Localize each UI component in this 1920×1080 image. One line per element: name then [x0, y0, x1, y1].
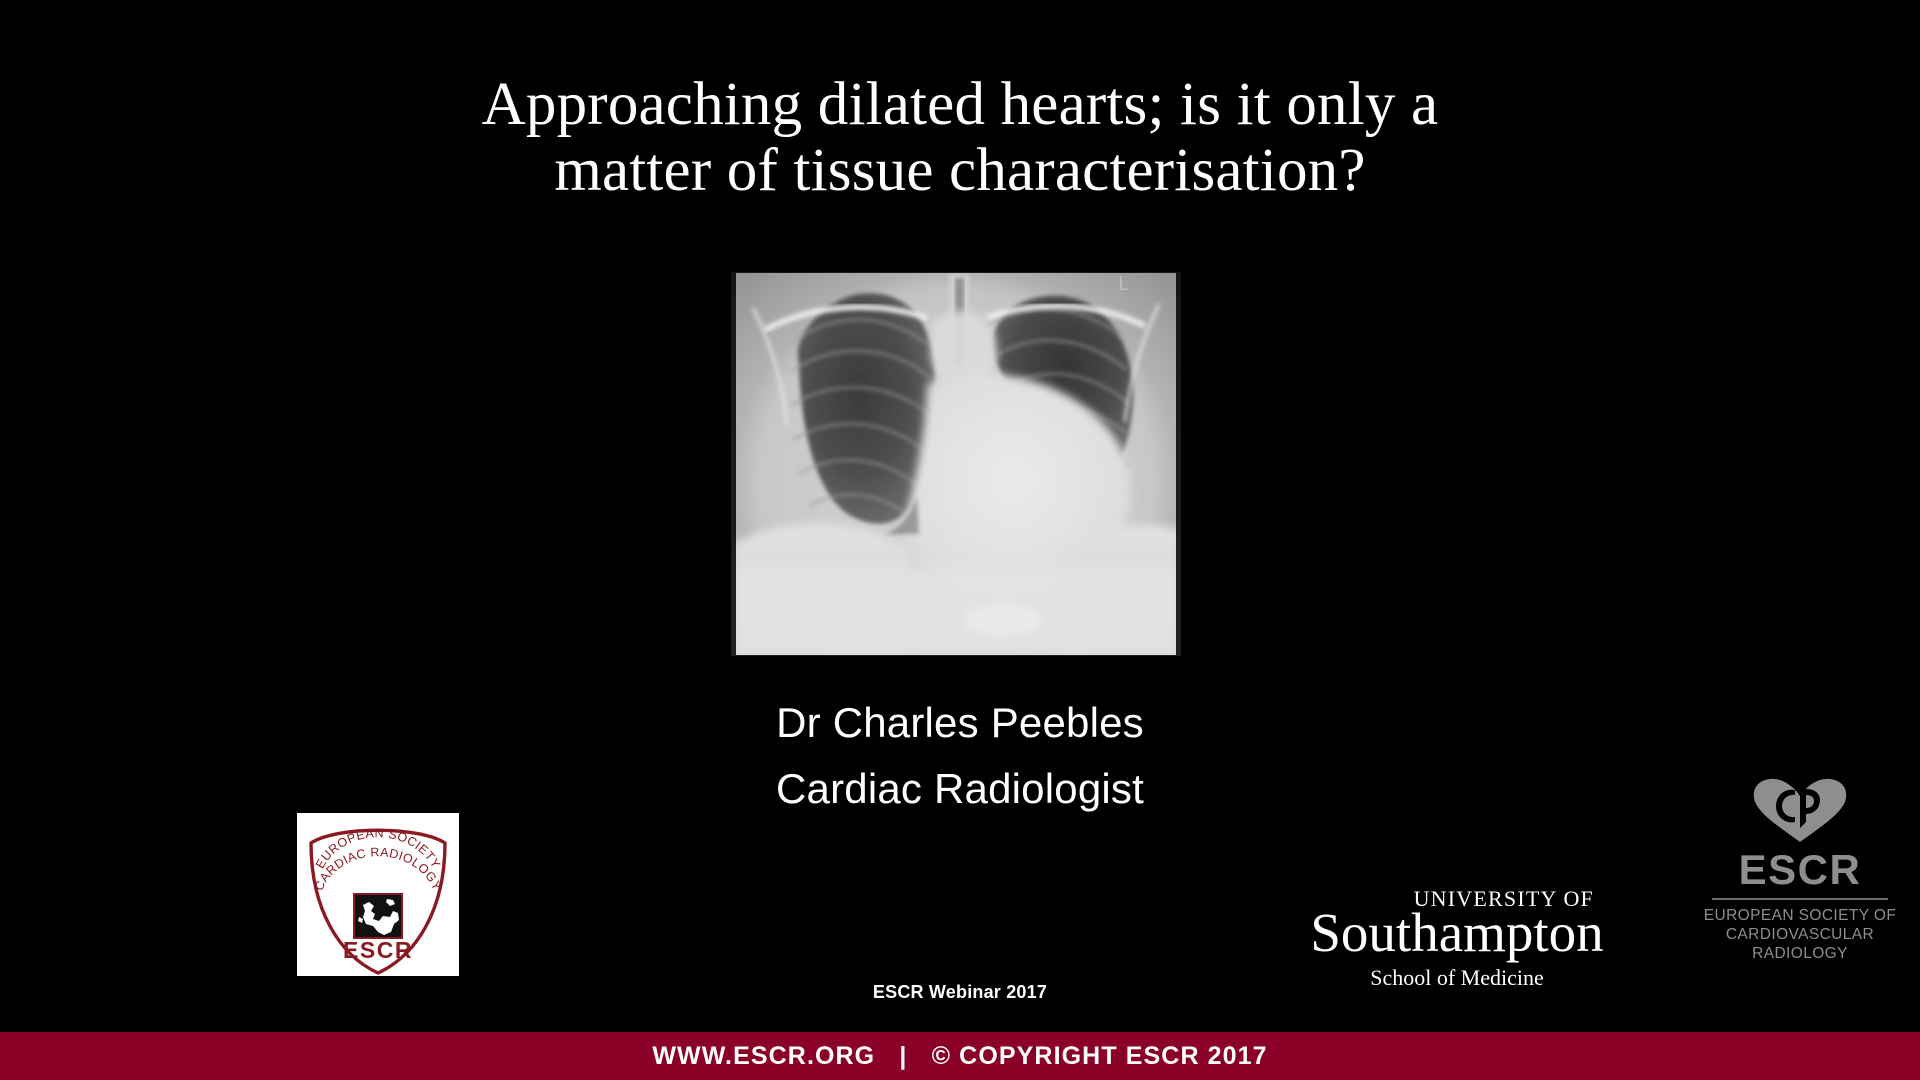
escr-shield-logo: EUROPEAN SOCIETY CARDIAC RADIOLOGY ESCR	[297, 813, 459, 976]
presenter-role: Cardiac Radiologist	[0, 756, 1920, 822]
presenter-name: Dr Charles Peebles	[0, 690, 1920, 756]
escr-subtitle-line-2: CARDIOVASCULAR	[1700, 925, 1900, 944]
escr-heart-cv-icon	[1700, 776, 1900, 844]
escr-divider	[1712, 898, 1888, 900]
shield-acronym: ESCR	[343, 937, 413, 963]
university-of-southampton-logo: UNIVERSITY OF Southampton School of Medi…	[1302, 888, 1612, 982]
slide-canvas: Approaching dilated hearts; is it only a…	[0, 0, 1920, 1080]
escr-shield-graphic: EUROPEAN SOCIETY CARDIAC RADIOLOGY ESCR	[297, 813, 459, 976]
title-line-2: matter of tissue characterisation?	[0, 138, 1920, 204]
xray-graphic	[731, 268, 1181, 660]
escr-subtitle-line-1: EUROPEAN SOCIETY OF	[1700, 906, 1900, 925]
soton-wordmark: Southampton	[1302, 908, 1612, 958]
presenter-block: Dr Charles Peebles Cardiac Radiologist	[0, 690, 1920, 822]
heart-cv-graphic	[1748, 776, 1852, 844]
title-line-1: Approaching dilated hearts; is it only a	[0, 72, 1920, 138]
footer-copyright-text[interactable]: WWW.ESCR.ORG | © COPYRIGHT ESCR 2017	[652, 1042, 1267, 1071]
footer-bar: WWW.ESCR.ORG | © COPYRIGHT ESCR 2017	[0, 1032, 1920, 1080]
page-title: Approaching dilated hearts; is it only a…	[0, 72, 1920, 204]
escr-modern-logo: ESCR EUROPEAN SOCIETY OF CARDIOVASCULAR …	[1700, 776, 1900, 972]
chest-radiograph-image: L	[731, 268, 1181, 660]
escr-acronym: ESCR	[1700, 848, 1900, 892]
webinar-caption: ESCR Webinar 2017	[0, 982, 1920, 1003]
laterality-marker-l: L	[1118, 274, 1129, 296]
escr-subtitle-line-3: RADIOLOGY	[1700, 944, 1900, 963]
